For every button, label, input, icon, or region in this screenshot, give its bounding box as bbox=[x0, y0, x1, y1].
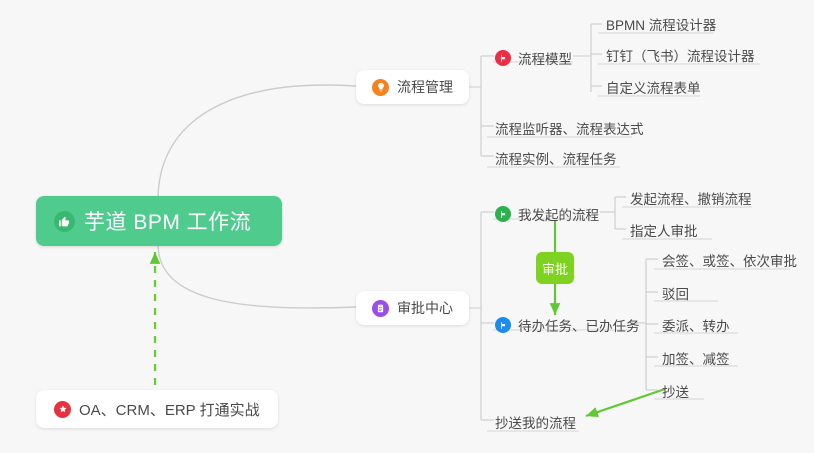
node-todo-done-tasks-label: 待办任务、已办任务 bbox=[518, 315, 640, 335]
leaf-reject-label: 驳回 bbox=[662, 283, 689, 303]
leaf-delegate-transfer[interactable]: 委派、转办 bbox=[654, 313, 740, 337]
leaf-custom-form-label: 自定义流程表单 bbox=[606, 77, 701, 97]
approval-highlight-label: 审批 bbox=[542, 259, 568, 278]
leaf-cc-to-me-label: 抄送我的流程 bbox=[495, 412, 576, 432]
mindmap-canvas: 芋道 BPM 工作流 流程管理 流程模型 BPMN 流程设计器 钉钉（飞书）流程… bbox=[0, 0, 814, 453]
thumbs-up-icon bbox=[54, 211, 75, 232]
leaf-assignee-approve[interactable]: 指定人审批 bbox=[622, 218, 708, 242]
branch-approval-center-label: 审批中心 bbox=[397, 298, 453, 318]
leaf-countersign[interactable]: 会签、或签、依次审批 bbox=[654, 248, 807, 272]
leaf-bpmn-designer[interactable]: BPMN 流程设计器 bbox=[598, 12, 726, 36]
branch-process-management[interactable]: 流程管理 bbox=[356, 70, 469, 104]
leaf-custom-form[interactable]: 自定义流程表单 bbox=[598, 75, 711, 99]
branch-approval-center[interactable]: 审批中心 bbox=[356, 291, 469, 325]
integration-note-label: OA、CRM、ERP 打通实战 bbox=[79, 399, 260, 420]
root-node[interactable]: 芋道 BPM 工作流 bbox=[36, 196, 282, 246]
leaf-add-remove-sign[interactable]: 加签、减签 bbox=[654, 346, 740, 370]
leaf-start-cancel-process-label: 发起流程、撤销流程 bbox=[630, 188, 752, 208]
node-todo-done-tasks[interactable]: 待办任务、已办任务 bbox=[493, 313, 648, 337]
node-my-initiated[interactable]: 我发起的流程 bbox=[493, 202, 607, 226]
leaf-dingtalk-designer[interactable]: 钉钉（飞书）流程设计器 bbox=[598, 43, 765, 67]
branch-process-management-label: 流程管理 bbox=[397, 77, 453, 97]
leaf-start-cancel-process[interactable]: 发起流程、撤销流程 bbox=[622, 186, 762, 210]
leaf-process-instance[interactable]: 流程实例、流程任务 bbox=[487, 146, 627, 170]
leaf-add-remove-sign-label: 加签、减签 bbox=[662, 348, 730, 368]
integration-note-card[interactable]: OA、CRM、ERP 打通实战 bbox=[36, 390, 278, 428]
flag-icon bbox=[495, 206, 511, 222]
leaf-dingtalk-designer-label: 钉钉（飞书）流程设计器 bbox=[606, 45, 755, 65]
node-my-initiated-label: 我发起的流程 bbox=[518, 204, 599, 224]
leaf-process-listener-label: 流程监听器、流程表达式 bbox=[495, 118, 644, 138]
leaf-countersign-label: 会签、或签、依次审批 bbox=[662, 250, 797, 270]
leaf-bpmn-designer-label: BPMN 流程设计器 bbox=[606, 14, 716, 34]
leaf-process-listener[interactable]: 流程监听器、流程表达式 bbox=[487, 116, 654, 140]
root-label: 芋道 BPM 工作流 bbox=[84, 206, 251, 236]
edge-root-to-process-management bbox=[158, 85, 356, 200]
star-icon bbox=[54, 401, 71, 418]
lightbulb-icon bbox=[372, 79, 389, 96]
leaf-cc-to-me[interactable]: 抄送我的流程 bbox=[487, 410, 586, 434]
leaf-process-instance-label: 流程实例、流程任务 bbox=[495, 148, 617, 168]
edge-root-to-approval-center bbox=[158, 244, 356, 308]
leaf-cc-label: 抄送 bbox=[662, 381, 689, 401]
leaf-cc[interactable]: 抄送 bbox=[654, 379, 699, 403]
leaf-delegate-transfer-label: 委派、转办 bbox=[662, 315, 730, 335]
leaf-reject[interactable]: 驳回 bbox=[654, 281, 699, 305]
flag-icon bbox=[495, 317, 511, 333]
node-process-model-label: 流程模型 bbox=[518, 48, 572, 68]
document-icon bbox=[372, 300, 389, 317]
flag-icon bbox=[495, 50, 511, 66]
approval-highlight-box[interactable]: 审批 bbox=[536, 252, 574, 284]
leaf-assignee-approve-label: 指定人审批 bbox=[630, 220, 698, 240]
node-process-model[interactable]: 流程模型 bbox=[493, 46, 580, 70]
